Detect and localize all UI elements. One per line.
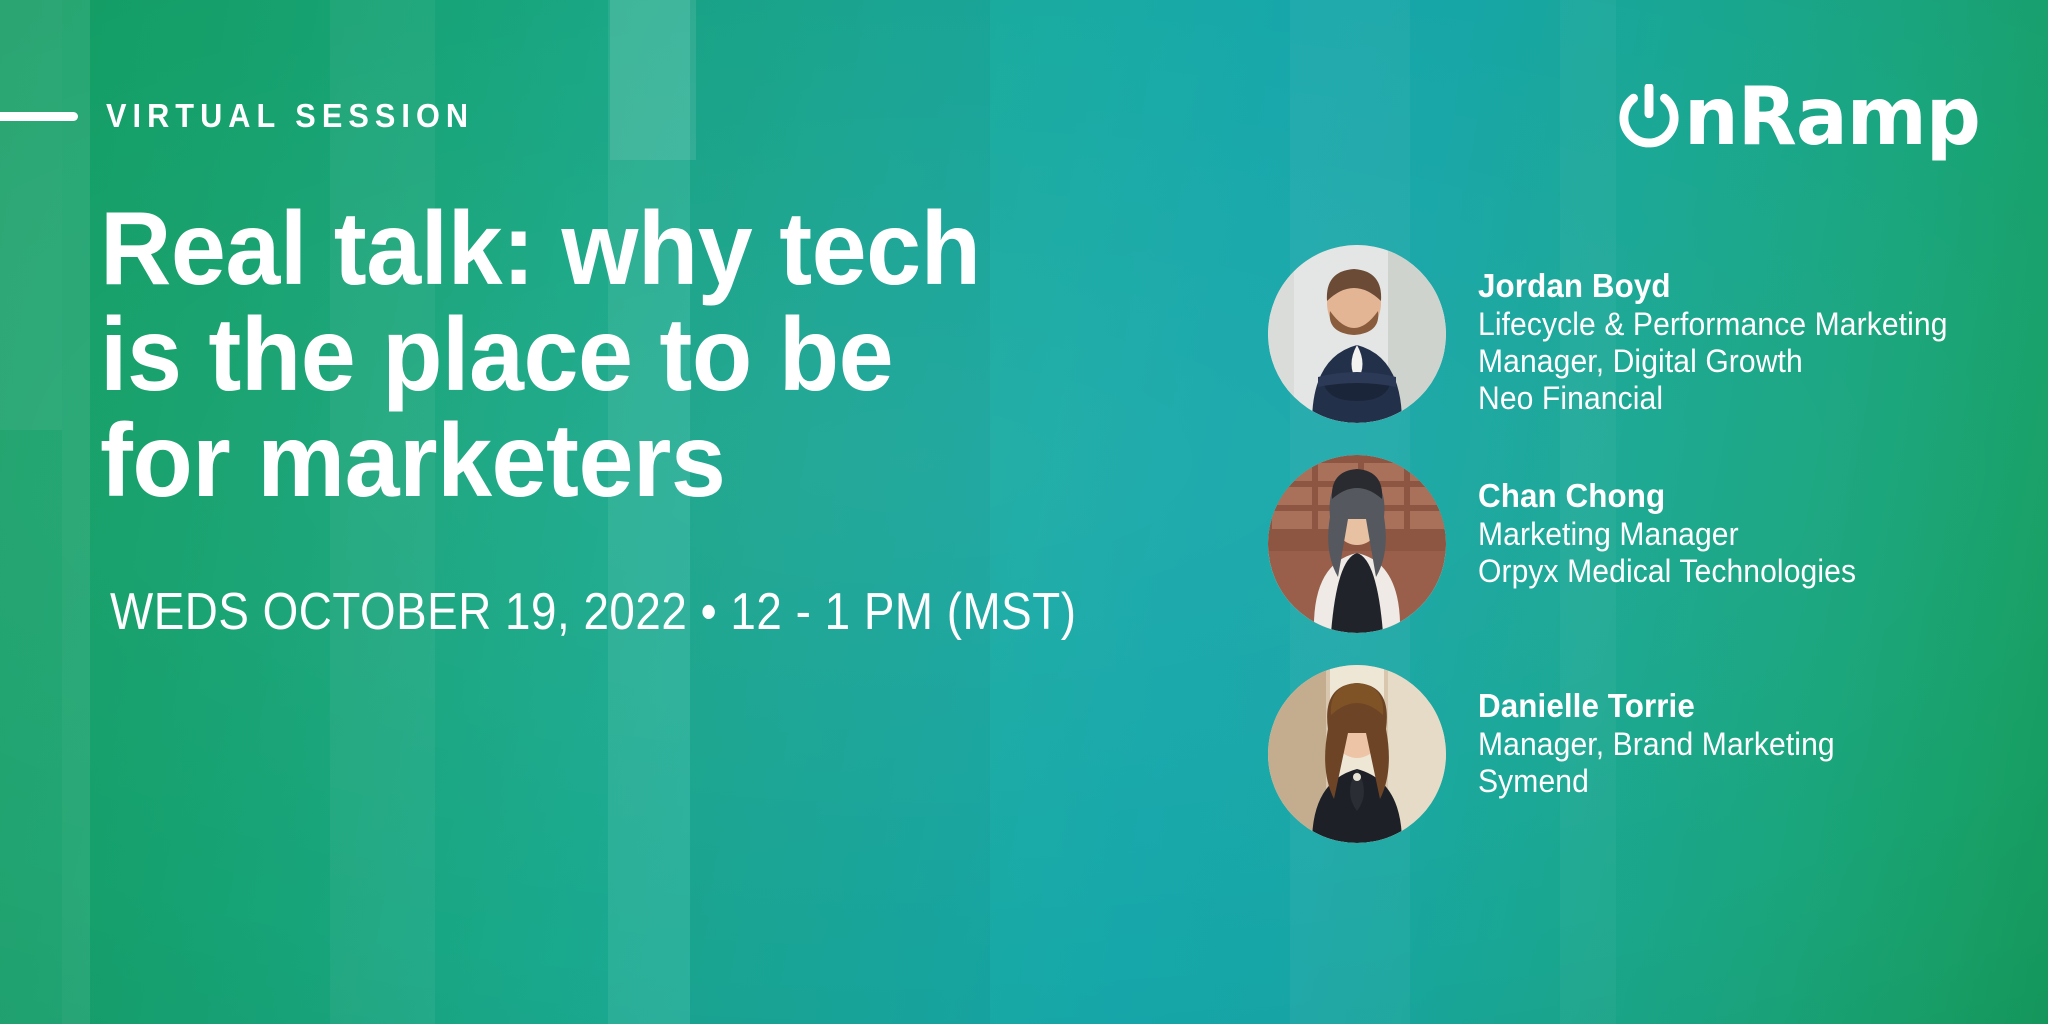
speaker-company: Neo Financial	[1478, 380, 1948, 417]
eyebrow-row: VIRTUAL SESSION	[0, 99, 502, 133]
avatar	[1268, 665, 1446, 843]
avatar	[1268, 245, 1446, 423]
speaker-item: Chan Chong Marketing Manager Orpyx Medic…	[1268, 455, 2028, 633]
logo-wordmark: nRamp	[1684, 77, 1980, 157]
speaker-name: Jordan Boyd	[1478, 267, 1953, 306]
speaker-role-line-1: Lifecycle & Performance Marketing	[1478, 306, 1948, 343]
headline-line-1: Real talk: why tech	[100, 196, 936, 302]
event-datetime: WEDS OCTOBER 19, 2022 • 12 - 1 PM (MST)	[110, 582, 1076, 642]
speaker-role-line-1: Manager, Brand Marketing	[1478, 726, 1835, 763]
speaker-name: Chan Chong	[1478, 477, 1860, 516]
speaker-text: Jordan Boyd Lifecycle & Performance Mark…	[1478, 245, 1978, 417]
speaker-list: Jordan Boyd Lifecycle & Performance Mark…	[1268, 245, 2028, 875]
headshot-chan-chong	[1268, 455, 1446, 633]
headshot-jordan-boyd	[1268, 245, 1446, 423]
dash-rule	[0, 112, 78, 121]
headline-line-3: for marketers	[100, 408, 936, 514]
avatar	[1268, 455, 1446, 633]
power-button-icon	[1616, 84, 1682, 150]
onramp-logo: nRamp	[1616, 78, 1992, 156]
speaker-role-line-1: Marketing Manager	[1478, 516, 1856, 553]
speaker-item: Danielle Torrie Manager, Brand Marketing…	[1268, 665, 2028, 843]
page-title: Real talk: why tech is the place to be f…	[100, 196, 936, 514]
event-promo-banner: VIRTUAL SESSION nRamp Real talk: why tec…	[0, 0, 2048, 1024]
speaker-text: Chan Chong Marketing Manager Orpyx Medic…	[1478, 455, 1880, 590]
speaker-company: Symend	[1478, 763, 1835, 800]
speaker-role-line-2: Manager, Digital Growth	[1478, 343, 1948, 380]
speaker-company: Orpyx Medical Technologies	[1478, 553, 1856, 590]
speaker-item: Jordan Boyd Lifecycle & Performance Mark…	[1268, 245, 2028, 423]
speaker-name: Danielle Torrie	[1478, 687, 1839, 726]
headshot-danielle-torrie	[1268, 665, 1446, 843]
headline-line-2: is the place to be	[100, 302, 936, 408]
eyebrow-label: VIRTUAL SESSION	[106, 97, 474, 135]
speaker-text: Danielle Torrie Manager, Brand Marketing…	[1478, 665, 1858, 800]
